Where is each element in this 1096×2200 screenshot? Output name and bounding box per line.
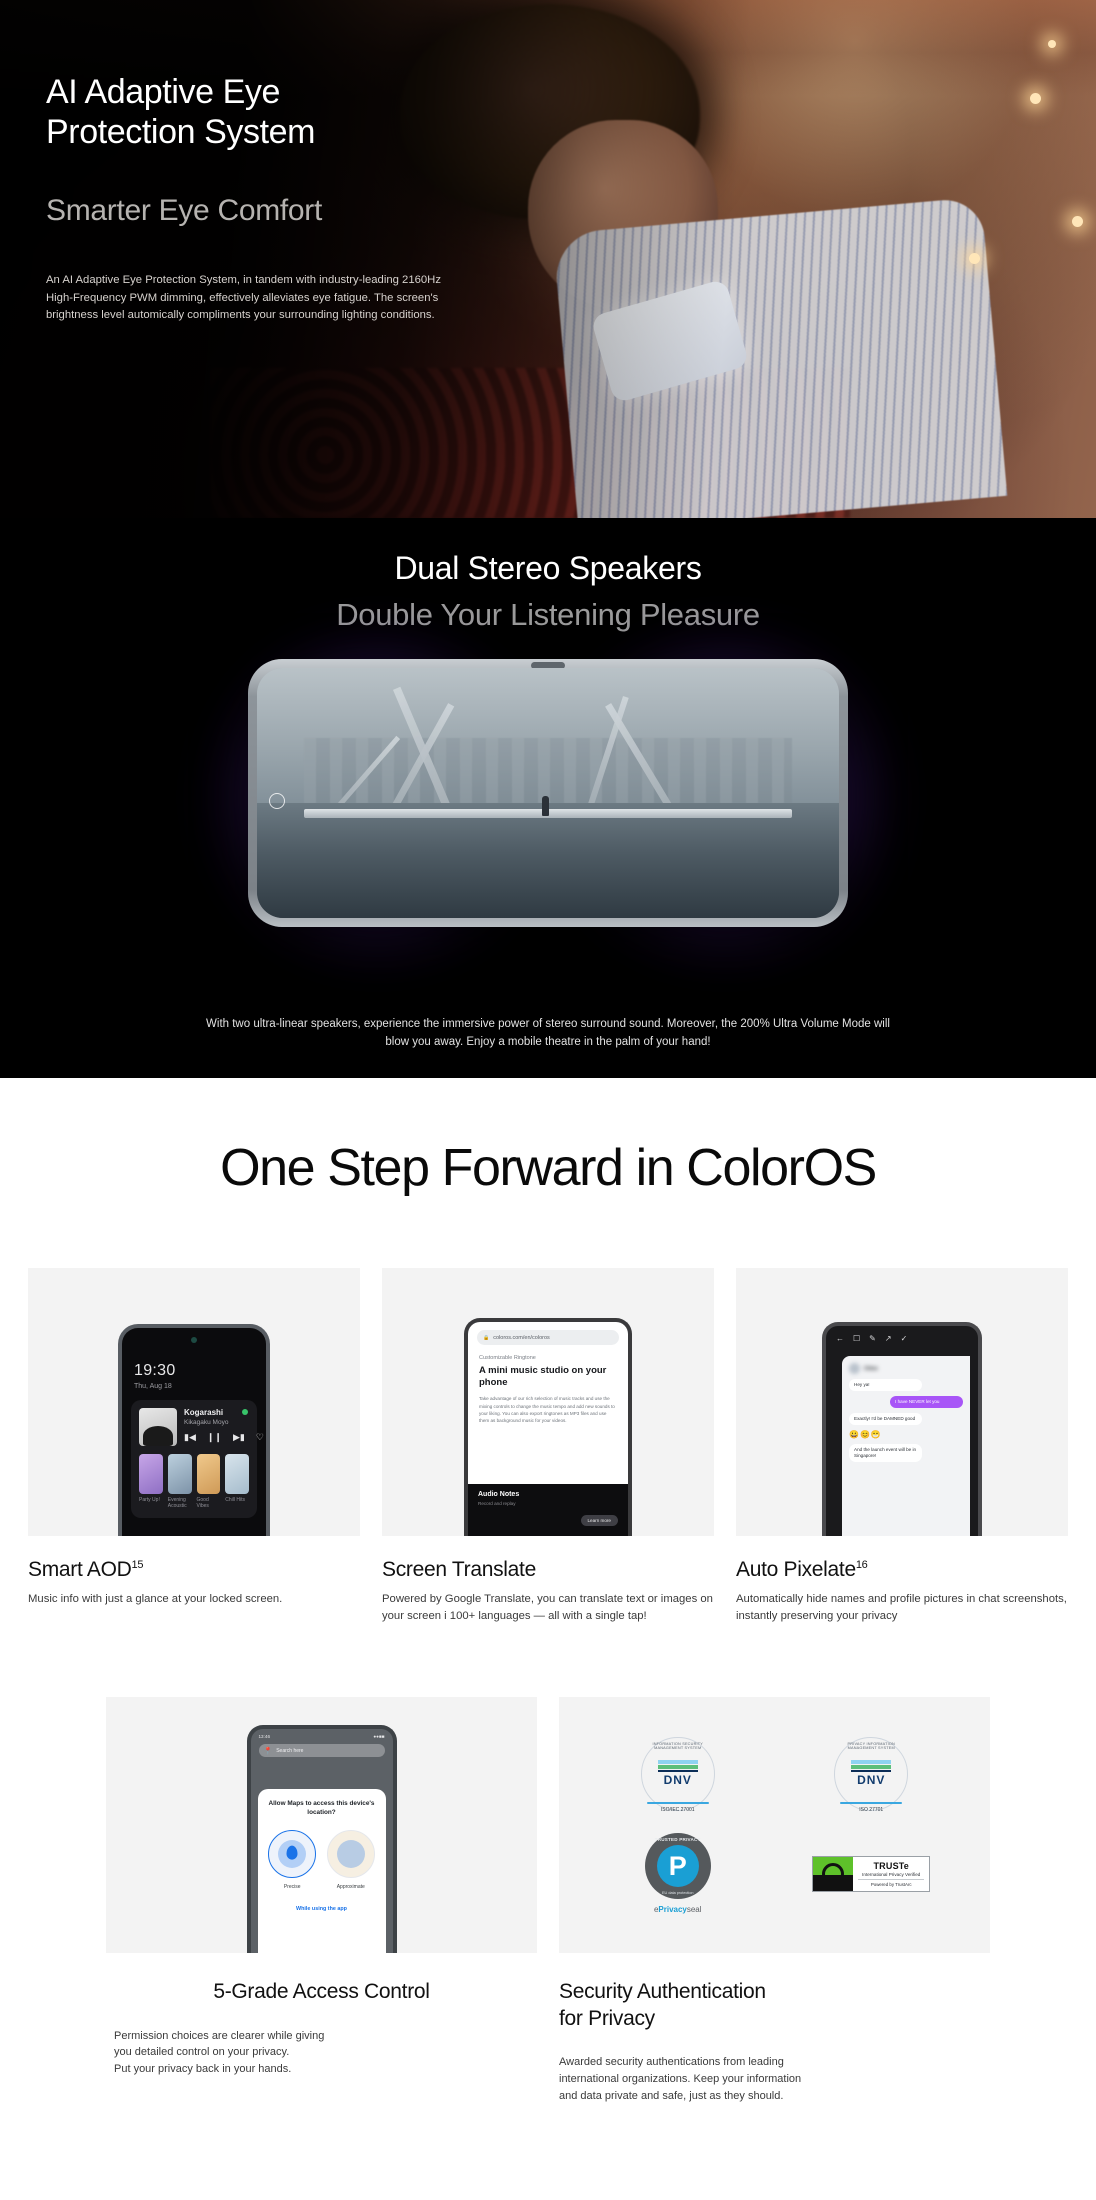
eprivacy-caption: ePrivacyseal	[645, 1905, 711, 1914]
badge-standard: ISO/IEC 27001	[641, 1807, 715, 1813]
seal-top-text: TRUSTED PRIVACY	[645, 1837, 711, 1842]
dual-stereo-speakers-section: Dual Stereo Speakers Double Your Listeni…	[0, 518, 1096, 1078]
phone-screen-game	[257, 668, 839, 918]
card-desc-access-control: Permission choices are clearer while giv…	[106, 2028, 537, 2078]
feature-card-smart-aod: 19:30 Thu, Aug 18 Kogarashi Kikagaku Moy…	[28, 1268, 360, 1625]
badge-ring-text: INFORMATION SECURITY MANAGEMENT SYSTEM	[641, 1742, 715, 1750]
playlist-tile[interactable]: Good Vibes	[197, 1454, 221, 1510]
search-placeholder: Search here	[276, 1748, 303, 1754]
landscape-phone-mockup	[248, 659, 848, 927]
smart-aod-media: 19:30 Thu, Aug 18 Kogarashi Kikagaku Moy…	[28, 1268, 360, 1536]
truste-black-bar	[813, 1875, 853, 1891]
chat-bubble: Hey ya!	[849, 1379, 922, 1391]
truste-badge: TRUSTe International Privacy Verified Po…	[812, 1856, 930, 1892]
coloros-section: One Step Forward in ColorOS 19:30 Thu, A…	[0, 1078, 1096, 2144]
panel-button[interactable]: Learn more	[581, 1515, 619, 1526]
badge-ring-text: PRIVACY INFORMATION MANAGEMENT SYSTEM	[834, 1742, 908, 1750]
aod-playlist-tiles: Party Up! Evening Acoustic Good Vibes	[139, 1454, 249, 1510]
speakers-body: With two ultra-linear speakers, experien…	[198, 1015, 898, 1052]
pixelate-phone-mockup: ← ☐ ✎ ↗ ✓ Chloe Hey ya! I have NEVER let…	[822, 1322, 982, 1536]
card-title-smart-aod: Smart AOD15	[28, 1558, 360, 1582]
pen-icon[interactable]: ✎	[869, 1334, 876, 1343]
chat-header: Chloe	[849, 1363, 963, 1374]
eye-section-body: An AI Adaptive Eye Protection System, in…	[46, 272, 446, 325]
auto-pixelate-media: ← ☐ ✎ ↗ ✓ Chloe Hey ya! I have NEVER let…	[736, 1268, 1068, 1536]
chat-screenshot: Chloe Hey ya! I have NEVER let you Exact…	[842, 1356, 970, 1536]
card-title-superscript: 16	[856, 1559, 868, 1571]
pause-icon[interactable]: ❙❙	[207, 1432, 222, 1443]
seal-bottom-text: EU data protection	[645, 1891, 711, 1895]
feature-card-screen-translate: 🔒 coloros.com/en/coloros Customizable Ri…	[382, 1268, 714, 1625]
back-arrow-icon[interactable]: ←	[836, 1334, 844, 1343]
playlist-thumb	[197, 1454, 221, 1494]
page-kicker: Customizable Ringtone	[479, 1355, 617, 1361]
game-hud-icon	[269, 793, 285, 809]
screen-translate-media: 🔒 coloros.com/en/coloros Customizable Ri…	[382, 1268, 714, 1536]
playlist-tile[interactable]: Chill Hits	[225, 1454, 249, 1510]
aod-music-widget[interactable]: Kogarashi Kikagaku Moyo ▮◀ ❙❙ ▶▮ ♡	[131, 1400, 257, 1518]
playlist-thumb	[168, 1454, 192, 1494]
playlist-tile[interactable]: Evening Acoustic	[168, 1454, 192, 1510]
heart-icon[interactable]: ♡	[256, 1432, 264, 1443]
eprivacyseal-badge: TRUSTED PRIVACY P EU data protection ePr…	[645, 1833, 711, 1914]
permission-dialog: Allow Maps to access this device's locat…	[258, 1789, 386, 1953]
feature-card-security-auth: INFORMATION SECURITY MANAGEMENT SYSTEM D…	[559, 1697, 990, 2104]
playlist-thumb	[225, 1454, 249, 1494]
caption-part-c: seal	[687, 1905, 702, 1914]
status-bar: 13:46 ●●■■	[251, 1729, 393, 1739]
speakers-subheading: Double Your Listening Pleasure	[0, 597, 1096, 633]
chat-bubble-footer: And the launch event will be in Singapor…	[849, 1444, 922, 1462]
security-auth-media: INFORMATION SECURITY MANAGEMENT SYSTEM D…	[559, 1697, 990, 1953]
playlist-tile[interactable]: Party Up!	[139, 1454, 163, 1510]
permission-option-precise[interactable]: Precise	[267, 1830, 319, 1890]
card-desc-security-auth: Awarded security authentications from le…	[559, 2054, 990, 2104]
precise-location-graphic	[268, 1830, 316, 1878]
badge-arc	[840, 1802, 902, 1804]
skip-next-icon[interactable]: ▶▮	[233, 1432, 245, 1443]
option-label: Approximate	[325, 1884, 377, 1890]
truste-title: TRUSTe	[858, 1861, 924, 1871]
playlist-caption: Party Up!	[139, 1497, 163, 1503]
playlist-caption: Good Vibes	[197, 1497, 221, 1510]
avatar	[849, 1363, 860, 1374]
game-character	[542, 796, 549, 816]
album-art	[139, 1408, 177, 1446]
playlist-thumb	[139, 1454, 163, 1494]
accuracy-blob	[337, 1840, 365, 1868]
skip-previous-icon[interactable]: ▮◀	[184, 1432, 196, 1443]
location-pin-icon	[287, 1845, 298, 1859]
eye-section-subheading: Smarter Eye Comfort	[46, 194, 476, 228]
dnv-iso-27701-badge: PRIVACY INFORMATION MANAGEMENT SYSTEM DN…	[834, 1737, 908, 1811]
playing-indicator-icon	[242, 1409, 248, 1415]
browser-url-bar[interactable]: 🔒 coloros.com/en/coloros	[477, 1330, 619, 1345]
maps-phone-mockup: 13:46 ●●■■ 📍 Search here Allow Maps to a…	[247, 1725, 397, 1953]
badge-arc	[647, 1802, 709, 1804]
card-title-security-auth: Security Authentication for Privacy	[559, 1979, 990, 2032]
contact-name: Chloe	[864, 1366, 878, 1372]
playlist-caption: Evening Acoustic	[168, 1497, 192, 1510]
url-text: coloros.com/en/coloros	[493, 1335, 550, 1341]
card-title-auto-pixelate: Auto Pixelate16	[736, 1558, 1068, 1582]
card-desc-screen-translate: Powered by Google Translate, you can tra…	[382, 1591, 714, 1625]
translate-panel: Audio Notes Record and replay Learn more	[468, 1484, 628, 1536]
card-desc-smart-aod: Music info with just a glance at your lo…	[28, 1591, 360, 1608]
aod-date: Thu, Aug 18	[134, 1383, 172, 1390]
dnv-iso-27001-badge: INFORMATION SECURITY MANAGEMENT SYSTEM D…	[641, 1737, 715, 1811]
translate-phone-mockup: 🔒 coloros.com/en/coloros Customizable Ri…	[464, 1318, 632, 1536]
maps-search-bar[interactable]: 📍 Search here	[259, 1744, 385, 1757]
status-time: 13:46	[259, 1734, 271, 1739]
permission-option-approximate[interactable]: Approximate	[325, 1830, 377, 1890]
eye-section-heading: AI Adaptive Eye Protection System	[46, 72, 476, 152]
speakers-visual	[0, 655, 1096, 955]
card-title-superscript: 15	[132, 1559, 144, 1571]
feature-card-auto-pixelate: ← ☐ ✎ ↗ ✓ Chloe Hey ya! I have NEVER let…	[736, 1268, 1068, 1625]
feature-card-access-control: 13:46 ●●■■ 📍 Search here Allow Maps to a…	[106, 1697, 537, 2104]
game-skyline	[304, 738, 793, 803]
emoji-row: 😀😊😁	[849, 1430, 963, 1439]
card-title-screen-translate: Screen Translate	[382, 1558, 714, 1582]
truste-logo-mark	[813, 1857, 853, 1891]
card-title-text: Auto Pixelate	[736, 1558, 856, 1581]
seal-letter: P	[657, 1845, 699, 1887]
card-desc-auto-pixelate: Automatically hide names and profile pic…	[736, 1591, 1068, 1625]
check-icon[interactable]: ✓	[901, 1334, 908, 1343]
eye-protection-section: AI Adaptive Eye Protection System Smarte…	[0, 0, 1096, 518]
eye-section-copy: AI Adaptive Eye Protection System Smarte…	[46, 72, 476, 325]
panel-subtitle: Record and replay	[478, 1501, 618, 1506]
playlist-caption: Chill Hits	[225, 1497, 249, 1503]
truste-text-block: TRUSTe International Privacy Verified Po…	[853, 1857, 929, 1891]
aod-song-title: Kogarashi	[184, 1408, 264, 1417]
lock-icon: 🔒	[483, 1335, 489, 1341]
aod-artist: Kikagaku Moyo	[184, 1419, 264, 1426]
coloros-privacy-grid: 13:46 ●●■■ 📍 Search here Allow Maps to a…	[0, 1697, 1096, 2104]
share-icon[interactable]: ↗	[885, 1334, 892, 1343]
speakers-heading: Dual Stereo Speakers	[0, 518, 1096, 587]
aod-phone-mockup: 19:30 Thu, Aug 18 Kogarashi Kikagaku Moy…	[118, 1324, 270, 1536]
badge-standard: ISO 27701	[834, 1807, 908, 1813]
eprivacy-seal-graphic: TRUSTED PRIVACY P EU data protection	[645, 1833, 711, 1899]
certification-badges: INFORMATION SECURITY MANAGEMENT SYSTEM D…	[559, 1697, 990, 1953]
page-headline: A mini music studio on your phone	[479, 1365, 617, 1388]
permission-question: Allow Maps to access this device's locat…	[267, 1800, 377, 1817]
approximate-location-graphic	[327, 1830, 375, 1878]
truste-subtitle: International Privacy Verified	[858, 1872, 924, 1877]
panel-title: Audio Notes	[478, 1491, 618, 1498]
webpage-content: Customizable Ringtone A mini music studi…	[468, 1345, 628, 1425]
screenshot-toolbar: ← ☐ ✎ ↗ ✓	[826, 1326, 978, 1351]
card-title-text: Screen Translate	[382, 1558, 536, 1581]
card-title-access-control: 5-Grade Access Control	[106, 1979, 537, 2005]
status-icons: ●●■■	[373, 1734, 384, 1739]
google-maps-pin-icon: 📍	[264, 1747, 273, 1755]
page-paragraph: Take advantage of our rich selection of …	[479, 1395, 617, 1425]
crop-icon[interactable]: ☐	[853, 1334, 860, 1343]
coloros-title: One Step Forward in ColorOS	[0, 1138, 1096, 1198]
permission-options: Precise Approximate	[267, 1830, 377, 1890]
game-water	[257, 803, 839, 918]
coloros-feature-grid: 19:30 Thu, Aug 18 Kogarashi Kikagaku Moy…	[0, 1268, 1096, 1625]
chat-bubble: Exactly! I'd be DAMNED good	[849, 1413, 922, 1425]
chat-bubble: I have NEVER let you	[890, 1396, 963, 1408]
option-label: Precise	[267, 1884, 319, 1890]
caption-part-b: Privacy	[658, 1905, 686, 1914]
divider	[858, 1879, 924, 1880]
front-camera-icon	[191, 1337, 197, 1343]
permission-cta-button[interactable]: While using the app	[267, 1906, 377, 1912]
aod-time: 19:30	[134, 1362, 176, 1380]
truste-powered: Powered by TrustArc	[858, 1882, 924, 1887]
access-control-media: 13:46 ●●■■ 📍 Search here Allow Maps to a…	[106, 1697, 537, 1953]
card-title-text: Smart AOD	[28, 1558, 132, 1581]
